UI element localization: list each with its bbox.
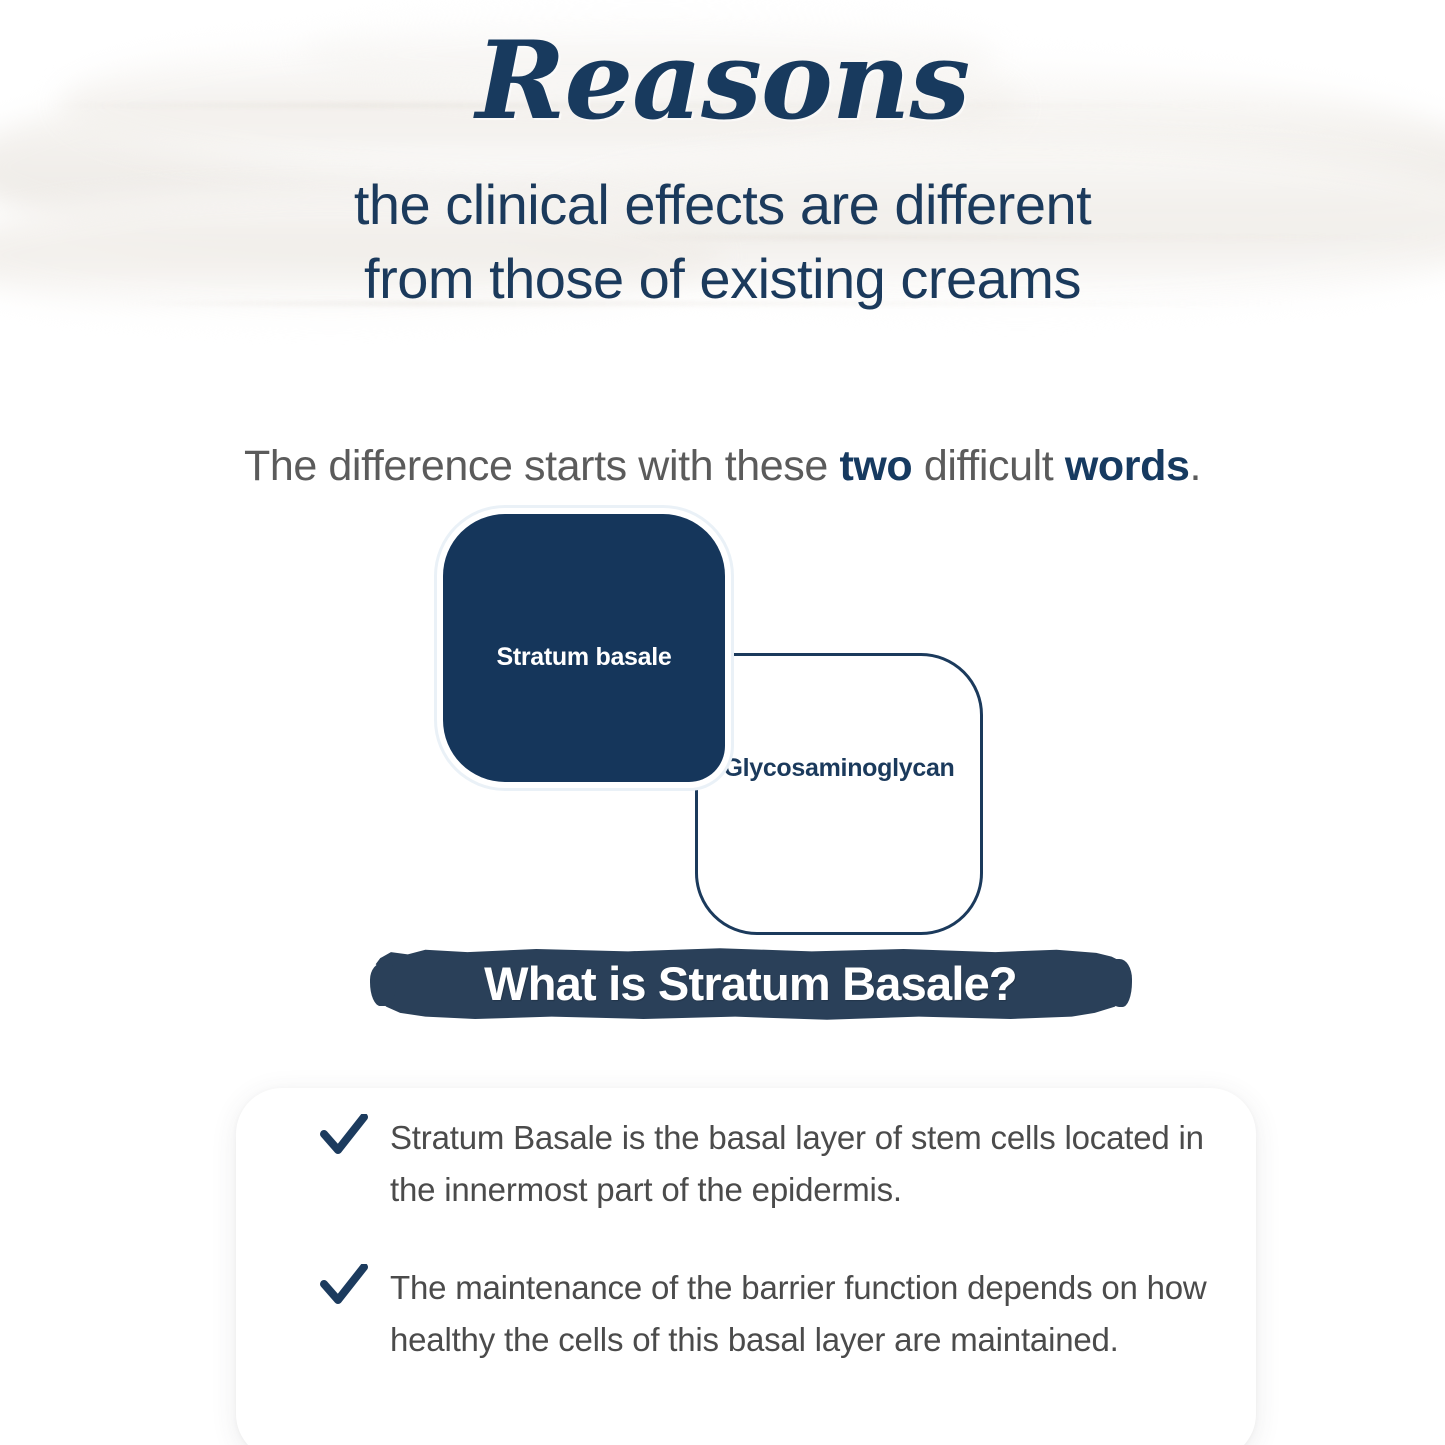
stratum-basale-label: Stratum basale — [496, 643, 671, 672]
page-title: Reasons — [0, 18, 1445, 145]
check-icon — [320, 1110, 376, 1158]
section-banner: What is Stratum Basale? — [368, 946, 1133, 1022]
list-item: Stratum Basale is the basal layer of ste… — [320, 1110, 1220, 1216]
stratum-basale-box: Stratum basale — [443, 514, 725, 782]
subtitle-line-2: from those of existing creams — [0, 242, 1445, 316]
lead-bold-words: words — [1065, 442, 1190, 490]
list-item: The maintenance of the barrier function … — [320, 1260, 1220, 1366]
lead-part-2: difficult — [912, 442, 1065, 490]
bullet-text: The maintenance of the barrier function … — [390, 1260, 1220, 1366]
lead-statement: The difference starts with these two dif… — [0, 437, 1445, 495]
bullet-list: Stratum Basale is the basal layer of ste… — [320, 1110, 1220, 1366]
lead-part-3: . — [1189, 442, 1201, 490]
terms-diagram: Glycosaminoglycan Stratum basale — [430, 500, 1010, 950]
lead-bold-two: two — [839, 442, 912, 490]
banner-heading: What is Stratum Basale? — [368, 946, 1133, 1022]
subtitle-line-1: the clinical effects are different — [0, 168, 1445, 242]
glycosaminoglycan-label: Glycosaminoglycan — [723, 754, 954, 783]
page-subtitle: the clinical effects are different from … — [0, 168, 1445, 316]
bullet-text: Stratum Basale is the basal layer of ste… — [390, 1110, 1220, 1216]
lead-part-1: The difference starts with these — [244, 442, 839, 490]
page-root: Reasons the clinical effects are differe… — [0, 0, 1445, 1445]
check-icon — [320, 1260, 376, 1308]
glycosaminoglycan-box: Glycosaminoglycan — [695, 653, 983, 935]
